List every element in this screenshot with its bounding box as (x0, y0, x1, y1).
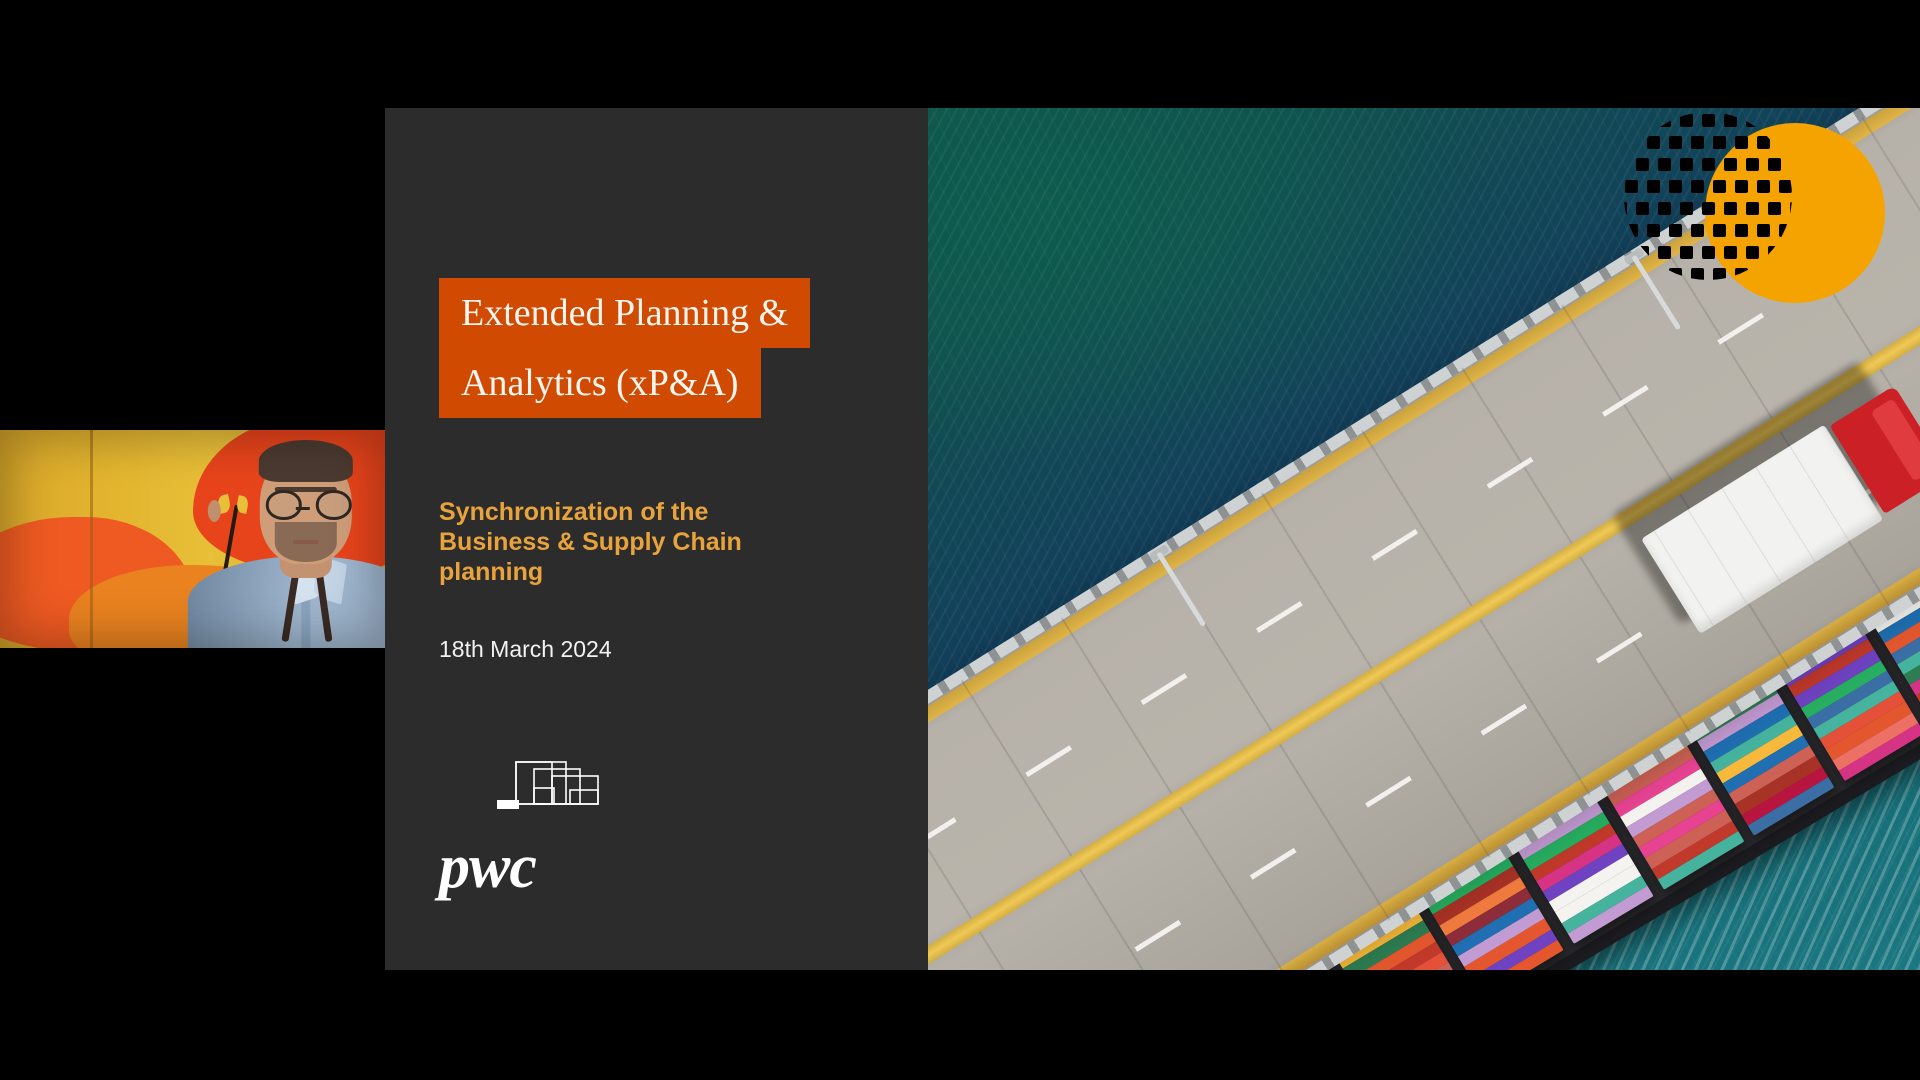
title-line-2: Analytics (xP&A) (439, 348, 761, 418)
presenter-webcam-tile[interactable] (0, 430, 385, 648)
pwc-wordmark: pwc (439, 836, 536, 898)
pwc-dotted-circle-decoration (1590, 108, 1920, 368)
pwc-geometric-mark-icon (497, 758, 619, 820)
meeting-screen: Extended Planning & Analytics (xP&A) Syn… (0, 0, 1920, 1080)
pwc-mark-svg (497, 758, 619, 820)
webcam-vignette (0, 430, 385, 648)
slide-title: Extended Planning & Analytics (xP&A) (439, 278, 810, 418)
aerial-bridge-and-container-ship-photo (928, 108, 1920, 970)
title-line-1: Extended Planning & (439, 278, 810, 348)
presentation-slide[interactable]: Extended Planning & Analytics (xP&A) Syn… (385, 108, 1920, 970)
slide-text-panel: Extended Planning & Analytics (xP&A) Syn… (385, 108, 928, 970)
decoration-svg (1590, 108, 1920, 368)
pwc-logo: pwc (439, 758, 619, 898)
slide-date: 18th March 2024 (439, 636, 612, 663)
slide-subtitle: Synchronization of the Business & Supply… (439, 497, 769, 587)
